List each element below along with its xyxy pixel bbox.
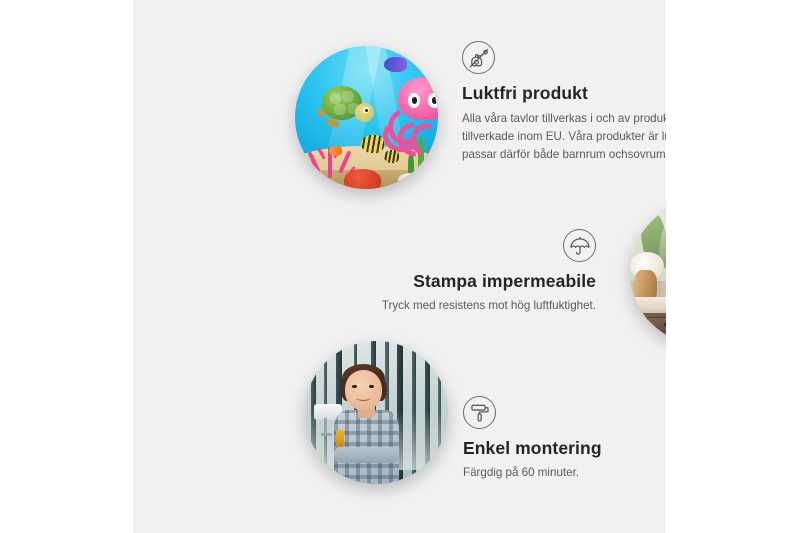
shell (398, 173, 424, 186)
underwater-cartoon-photo (295, 46, 438, 189)
crab (344, 169, 381, 189)
no-odour-perfume-icon (462, 41, 495, 74)
feature-odourless: Luktfri produkt Alla våra tavlor tillver… (462, 41, 666, 164)
bathroom-vanity-photo (630, 201, 666, 344)
feature-title: Enkel montering (463, 438, 666, 460)
umbrella-icon (563, 229, 596, 262)
paint-roller-icon (463, 396, 496, 429)
coral (306, 135, 355, 178)
folded-arms (334, 447, 400, 463)
feature-description: Färgdig på 60 minuter. (463, 464, 666, 482)
cabinet-drawer (647, 317, 666, 332)
feature-waterproof: Stampa impermeabile Tryck med resistens … (346, 229, 596, 315)
feature-title: Luktfri produkt (462, 83, 666, 105)
octopus (387, 77, 438, 146)
fish (384, 57, 407, 71)
feature-description: Alla våra tavlor tillverkas i och av pro… (462, 110, 666, 164)
feature-description: Tryck med resistens mot hög luftfuktighe… (346, 297, 596, 315)
vanity-cabinet (639, 313, 666, 344)
feature-title: Stampa impermeabile (346, 271, 596, 293)
smile (356, 394, 370, 401)
paint-brush-prop (336, 430, 343, 447)
feature-easy-assembly: Enkel montering Färgdig på 60 minuter. (463, 396, 666, 482)
fish (329, 146, 342, 156)
painter-forest-photo (305, 341, 448, 484)
product-feature-panel: Luktfri produkt Alla våra tavlor tillver… (133, 0, 666, 533)
roller-handle (321, 433, 332, 436)
fish (361, 135, 384, 154)
turtle (315, 83, 372, 129)
drawer-pull (664, 323, 666, 326)
fish (384, 150, 400, 163)
face (345, 370, 382, 410)
screenshot-stage: Luktfri produkt Alla våra tavlor tillver… (0, 0, 800, 533)
